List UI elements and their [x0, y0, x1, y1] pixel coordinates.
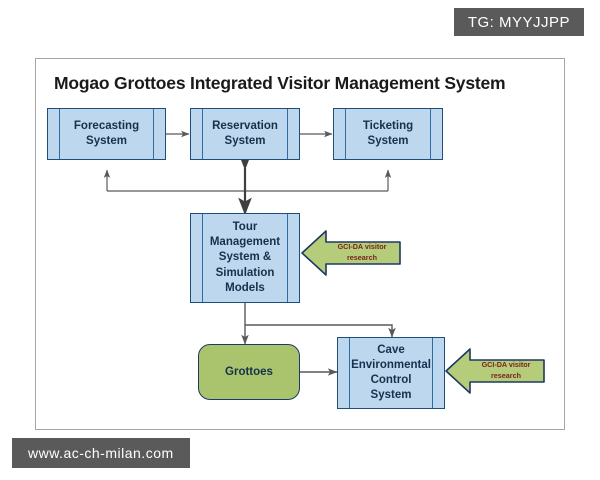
node-cave-environmental-control-system[interactable]: Cave Environmental Control System: [337, 337, 445, 409]
annotation-arrow-research-cave: GCI-DA visitor research: [444, 344, 546, 398]
node-tour-management-system[interactable]: Tour Management System & Simulation Mode…: [190, 213, 300, 303]
node-cave-environmental-control-system-label: Cave Environmental Control System: [337, 343, 445, 404]
node-reservation-system[interactable]: Reservation System: [190, 108, 300, 160]
subroutine-bar-left: [345, 109, 346, 159]
node-grottoes-label: Grottoes: [225, 366, 273, 378]
node-ticketing-system[interactable]: Ticketing System: [333, 108, 443, 160]
node-forecasting-system[interactable]: Forecasting System: [47, 108, 166, 160]
bottom-left-watermark-tag: www.ac-ch-milan.com: [12, 438, 190, 468]
subroutine-bar-right: [430, 109, 431, 159]
top-right-watermark-tag: TG: MYYJJPP: [454, 8, 584, 36]
annotation-arrow-research-cave-label: GCI-DA visitor research: [470, 360, 542, 382]
subroutine-bar-right: [153, 109, 154, 159]
top-right-watermark-text: TG: MYYJJPP: [468, 14, 570, 31]
node-tour-management-system-label: Tour Management System & Simulation Mode…: [196, 220, 294, 296]
annotation-arrow-research-tour-label: GCI-DA visitor research: [326, 242, 398, 264]
bottom-left-watermark-text: www.ac-ch-milan.com: [28, 445, 174, 461]
diagram-title: Mogao Grottoes Integrated Visitor Manage…: [54, 73, 505, 94]
node-ticketing-system-label: Ticketing System: [349, 119, 427, 149]
node-forecasting-system-label: Forecasting System: [60, 119, 153, 149]
annotation-arrow-research-tour: GCI-DA visitor research: [300, 226, 402, 280]
node-grottoes[interactable]: Grottoes: [198, 344, 300, 400]
node-reservation-system-label: Reservation System: [198, 119, 292, 149]
